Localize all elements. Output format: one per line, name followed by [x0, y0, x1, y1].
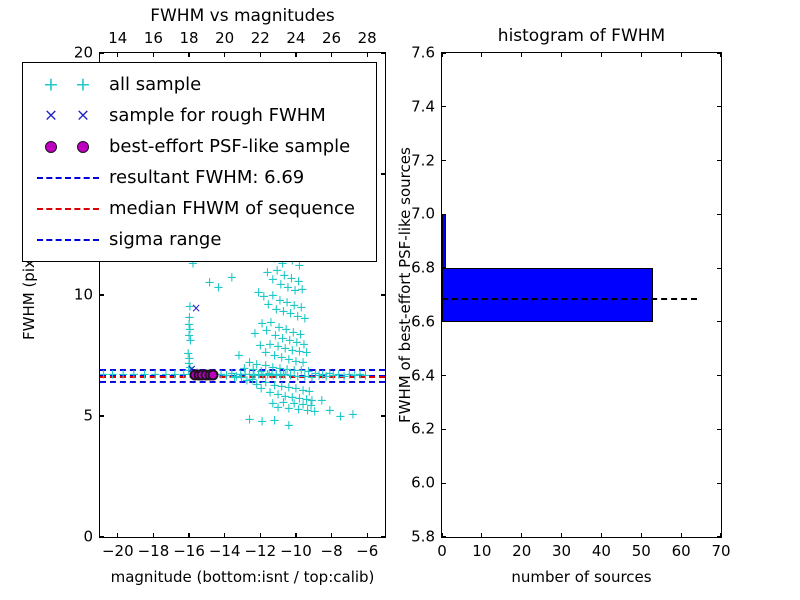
hist-x-tick	[481, 533, 482, 538]
left-plot-xlabel: magnitude (bottom:isnt / top:calib)	[111, 570, 375, 585]
top-x-tick-label: 26	[322, 31, 341, 46]
data-point-all-sample: +	[301, 347, 312, 360]
y-tick-label: 0	[65, 530, 93, 545]
data-point-all-sample: +	[247, 373, 258, 386]
hist-y-tick	[441, 214, 446, 215]
dashed-line-icon	[37, 208, 99, 210]
y-tick-right	[381, 415, 386, 416]
y-tick-right	[381, 173, 386, 174]
top-x-tick	[331, 52, 332, 57]
legend-key: ++	[31, 69, 105, 100]
data-point-all-sample: +	[100, 368, 109, 381]
data-point-all-sample: +	[128, 369, 139, 382]
legend-entry-label: median FHWM of sequence	[105, 198, 355, 219]
hist-x-tick-label: 70	[711, 544, 730, 559]
legend-entry-label: sigma range	[105, 229, 221, 250]
legend-entry-label: best-effort PSF-like sample	[105, 136, 350, 157]
data-point-all-sample: +	[297, 284, 308, 297]
data-point-all-sample: +	[335, 411, 346, 424]
legend-entry: median FHWM of sequence	[31, 193, 366, 224]
x-tick-label: −20	[102, 544, 134, 559]
hist-y-tick	[441, 106, 446, 107]
x-tick-label: −6	[356, 544, 378, 559]
x-tick	[295, 533, 296, 538]
y-tick-label: 20	[65, 46, 93, 61]
hist-x-tick	[561, 533, 562, 538]
right-plot-ylabel: FWHM of best-effort PSF-like sources	[398, 147, 413, 423]
x-tick-label: −12	[244, 544, 276, 559]
legend-entry-label: sample for rough FWHM	[105, 105, 326, 126]
y-tick-right	[381, 52, 386, 53]
circle-icon	[45, 141, 57, 153]
y-tick	[99, 52, 104, 53]
hist-y-tick-right	[717, 268, 722, 269]
top-x-tick	[153, 52, 154, 57]
hist-y-tick-right	[717, 160, 722, 161]
legend-entry-label: resultant FWHM: 6.69	[105, 167, 304, 188]
hist-y-tick	[441, 483, 446, 484]
legend-entry: ++all sample	[31, 69, 366, 100]
dashed-line-icon	[37, 177, 99, 179]
histogram-bar	[442, 268, 653, 322]
data-point-all-sample: +	[257, 416, 268, 429]
data-point-all-sample: +	[229, 372, 240, 385]
hist-y-tick-right	[717, 52, 722, 53]
top-x-tick	[188, 52, 189, 57]
data-point-all-sample: +	[269, 414, 280, 427]
legend-entry-label: all sample	[105, 74, 201, 95]
legend-key	[31, 162, 105, 193]
legend-entry: best-effort PSF-like sample	[31, 131, 366, 162]
data-point-all-sample: +	[160, 368, 171, 381]
data-point-all-sample: +	[139, 368, 150, 381]
hist-y-tick-label: 7.6	[397, 46, 435, 61]
top-x-tick-label: 14	[108, 31, 127, 46]
data-point-all-sample: +	[347, 408, 358, 421]
x-tick-label: −10	[280, 544, 312, 559]
data-point-all-sample: +	[226, 272, 237, 285]
hist-y-tick	[441, 429, 446, 430]
plus-icon: +	[75, 75, 91, 94]
data-point-all-sample: +	[324, 405, 335, 418]
hist-y-tick-right	[717, 106, 722, 107]
y-tick-right	[381, 536, 386, 537]
hist-x-tick-top	[601, 52, 602, 57]
hist-x-tick-label: 40	[592, 544, 611, 559]
data-point-all-sample: +	[213, 281, 224, 294]
hist-y-tick-right	[717, 429, 722, 430]
x-tick	[260, 533, 261, 538]
data-point-all-sample: +	[185, 334, 196, 347]
histogram-bar	[442, 214, 446, 268]
data-point-all-sample: +	[150, 369, 161, 382]
hist-x-tick-label: 20	[512, 544, 531, 559]
hist-x-tick-label: 50	[632, 544, 651, 559]
top-x-tick-label: 18	[180, 31, 199, 46]
hist-y-tick-label: 6.0	[397, 476, 435, 491]
legend-entry: ××sample for rough FWHM	[31, 100, 366, 131]
data-point-psf-sample	[208, 370, 219, 381]
hist-x-tick-top	[481, 52, 482, 57]
hist-x-tick-top	[641, 52, 642, 57]
plot-legend: ++all sample××sample for rough FWHMbest-…	[22, 62, 377, 262]
hist-x-tick	[641, 533, 642, 538]
top-x-tick	[367, 52, 368, 57]
x-tick	[117, 533, 118, 538]
hist-y-tick	[441, 321, 446, 322]
legend-key: ××	[31, 100, 105, 131]
legend-entry: resultant FWHM: 6.69	[31, 162, 366, 193]
hist-x-tick	[601, 533, 602, 538]
data-point-all-sample: +	[299, 313, 310, 326]
hist-y-tick-right	[717, 214, 722, 215]
hist-y-tick	[441, 268, 446, 269]
x-tick	[153, 533, 154, 538]
hist-y-tick-label: 7.4	[397, 99, 435, 114]
hist-x-tick	[681, 533, 682, 538]
top-x-tick	[295, 52, 296, 57]
left-plot-title: FWHM vs magnitudes	[150, 8, 335, 25]
hist-y-tick	[441, 160, 446, 161]
hist-x-tick-label: 60	[672, 544, 691, 559]
legend-key	[31, 224, 105, 255]
top-x-tick-label: 16	[144, 31, 163, 46]
hist-y-tick-right	[717, 483, 722, 484]
left-plot-ylabel: FWHM (pix)	[22, 253, 37, 340]
x-tick-label: −14	[209, 544, 241, 559]
top-x-tick	[224, 52, 225, 57]
x-tick	[367, 533, 368, 538]
hist-y-tick-label: 5.8	[397, 530, 435, 545]
y-tick-label: 10	[65, 288, 93, 303]
dashdot-line-icon	[37, 239, 99, 241]
cross-icon: ×	[44, 107, 58, 124]
x-tick	[224, 533, 225, 538]
hist-x-tick-top	[681, 52, 682, 57]
right-plot-title: histogram of FWHM	[498, 28, 665, 45]
x-tick	[188, 533, 189, 538]
top-x-tick-label: 20	[215, 31, 234, 46]
data-point-all-sample: +	[283, 419, 294, 432]
hist-x-tick-label: 0	[437, 544, 447, 559]
top-x-tick-label: 28	[358, 31, 377, 46]
hist-y-tick	[441, 536, 446, 537]
x-tick-label: −16	[173, 544, 205, 559]
x-tick	[331, 533, 332, 538]
y-tick	[99, 294, 104, 295]
hist-y-tick-right	[717, 536, 722, 537]
y-tick-right	[381, 294, 386, 295]
hist-y-tick-right	[717, 375, 722, 376]
hist-y-tick	[441, 375, 446, 376]
top-x-tick	[117, 52, 118, 57]
right-plot-xlabel: number of sources	[511, 570, 651, 585]
y-tick	[99, 415, 104, 416]
legend-key	[31, 193, 105, 224]
top-x-tick-label: 24	[286, 31, 305, 46]
data-point-rough-sample: ×	[191, 302, 201, 314]
hist-x-tick-label: 10	[472, 544, 491, 559]
hist-y-tick	[441, 52, 446, 53]
histogram-plot-area	[442, 53, 721, 537]
top-x-tick-label: 22	[251, 31, 270, 46]
y-tick	[99, 536, 104, 537]
top-x-tick	[260, 52, 261, 57]
hist-y-tick-label: 6.2	[397, 422, 435, 437]
circle-icon	[77, 141, 89, 153]
x-tick-label: −18	[138, 544, 170, 559]
hist-x-tick	[521, 533, 522, 538]
plus-icon: +	[43, 75, 59, 94]
data-point-all-sample: +	[244, 413, 255, 426]
legend-key	[31, 131, 105, 162]
hist-x-tick-top	[561, 52, 562, 57]
data-point-all-sample: +	[118, 368, 129, 381]
data-point-all-sample: +	[233, 349, 244, 362]
hist-x-tick-label: 30	[552, 544, 571, 559]
hist-y-tick-right	[717, 321, 722, 322]
x-tick-label: −8	[321, 544, 343, 559]
legend-entry: sigma range	[31, 224, 366, 255]
y-tick-label: 5	[65, 409, 93, 424]
cross-icon: ×	[76, 107, 90, 124]
matplotlib-figure: FWHM vs magnitudes +++++++++++++++++++++…	[0, 0, 800, 600]
data-point-all-sample: +	[360, 370, 371, 383]
histogram-median-line	[442, 298, 697, 300]
hist-x-tick-top	[521, 52, 522, 57]
